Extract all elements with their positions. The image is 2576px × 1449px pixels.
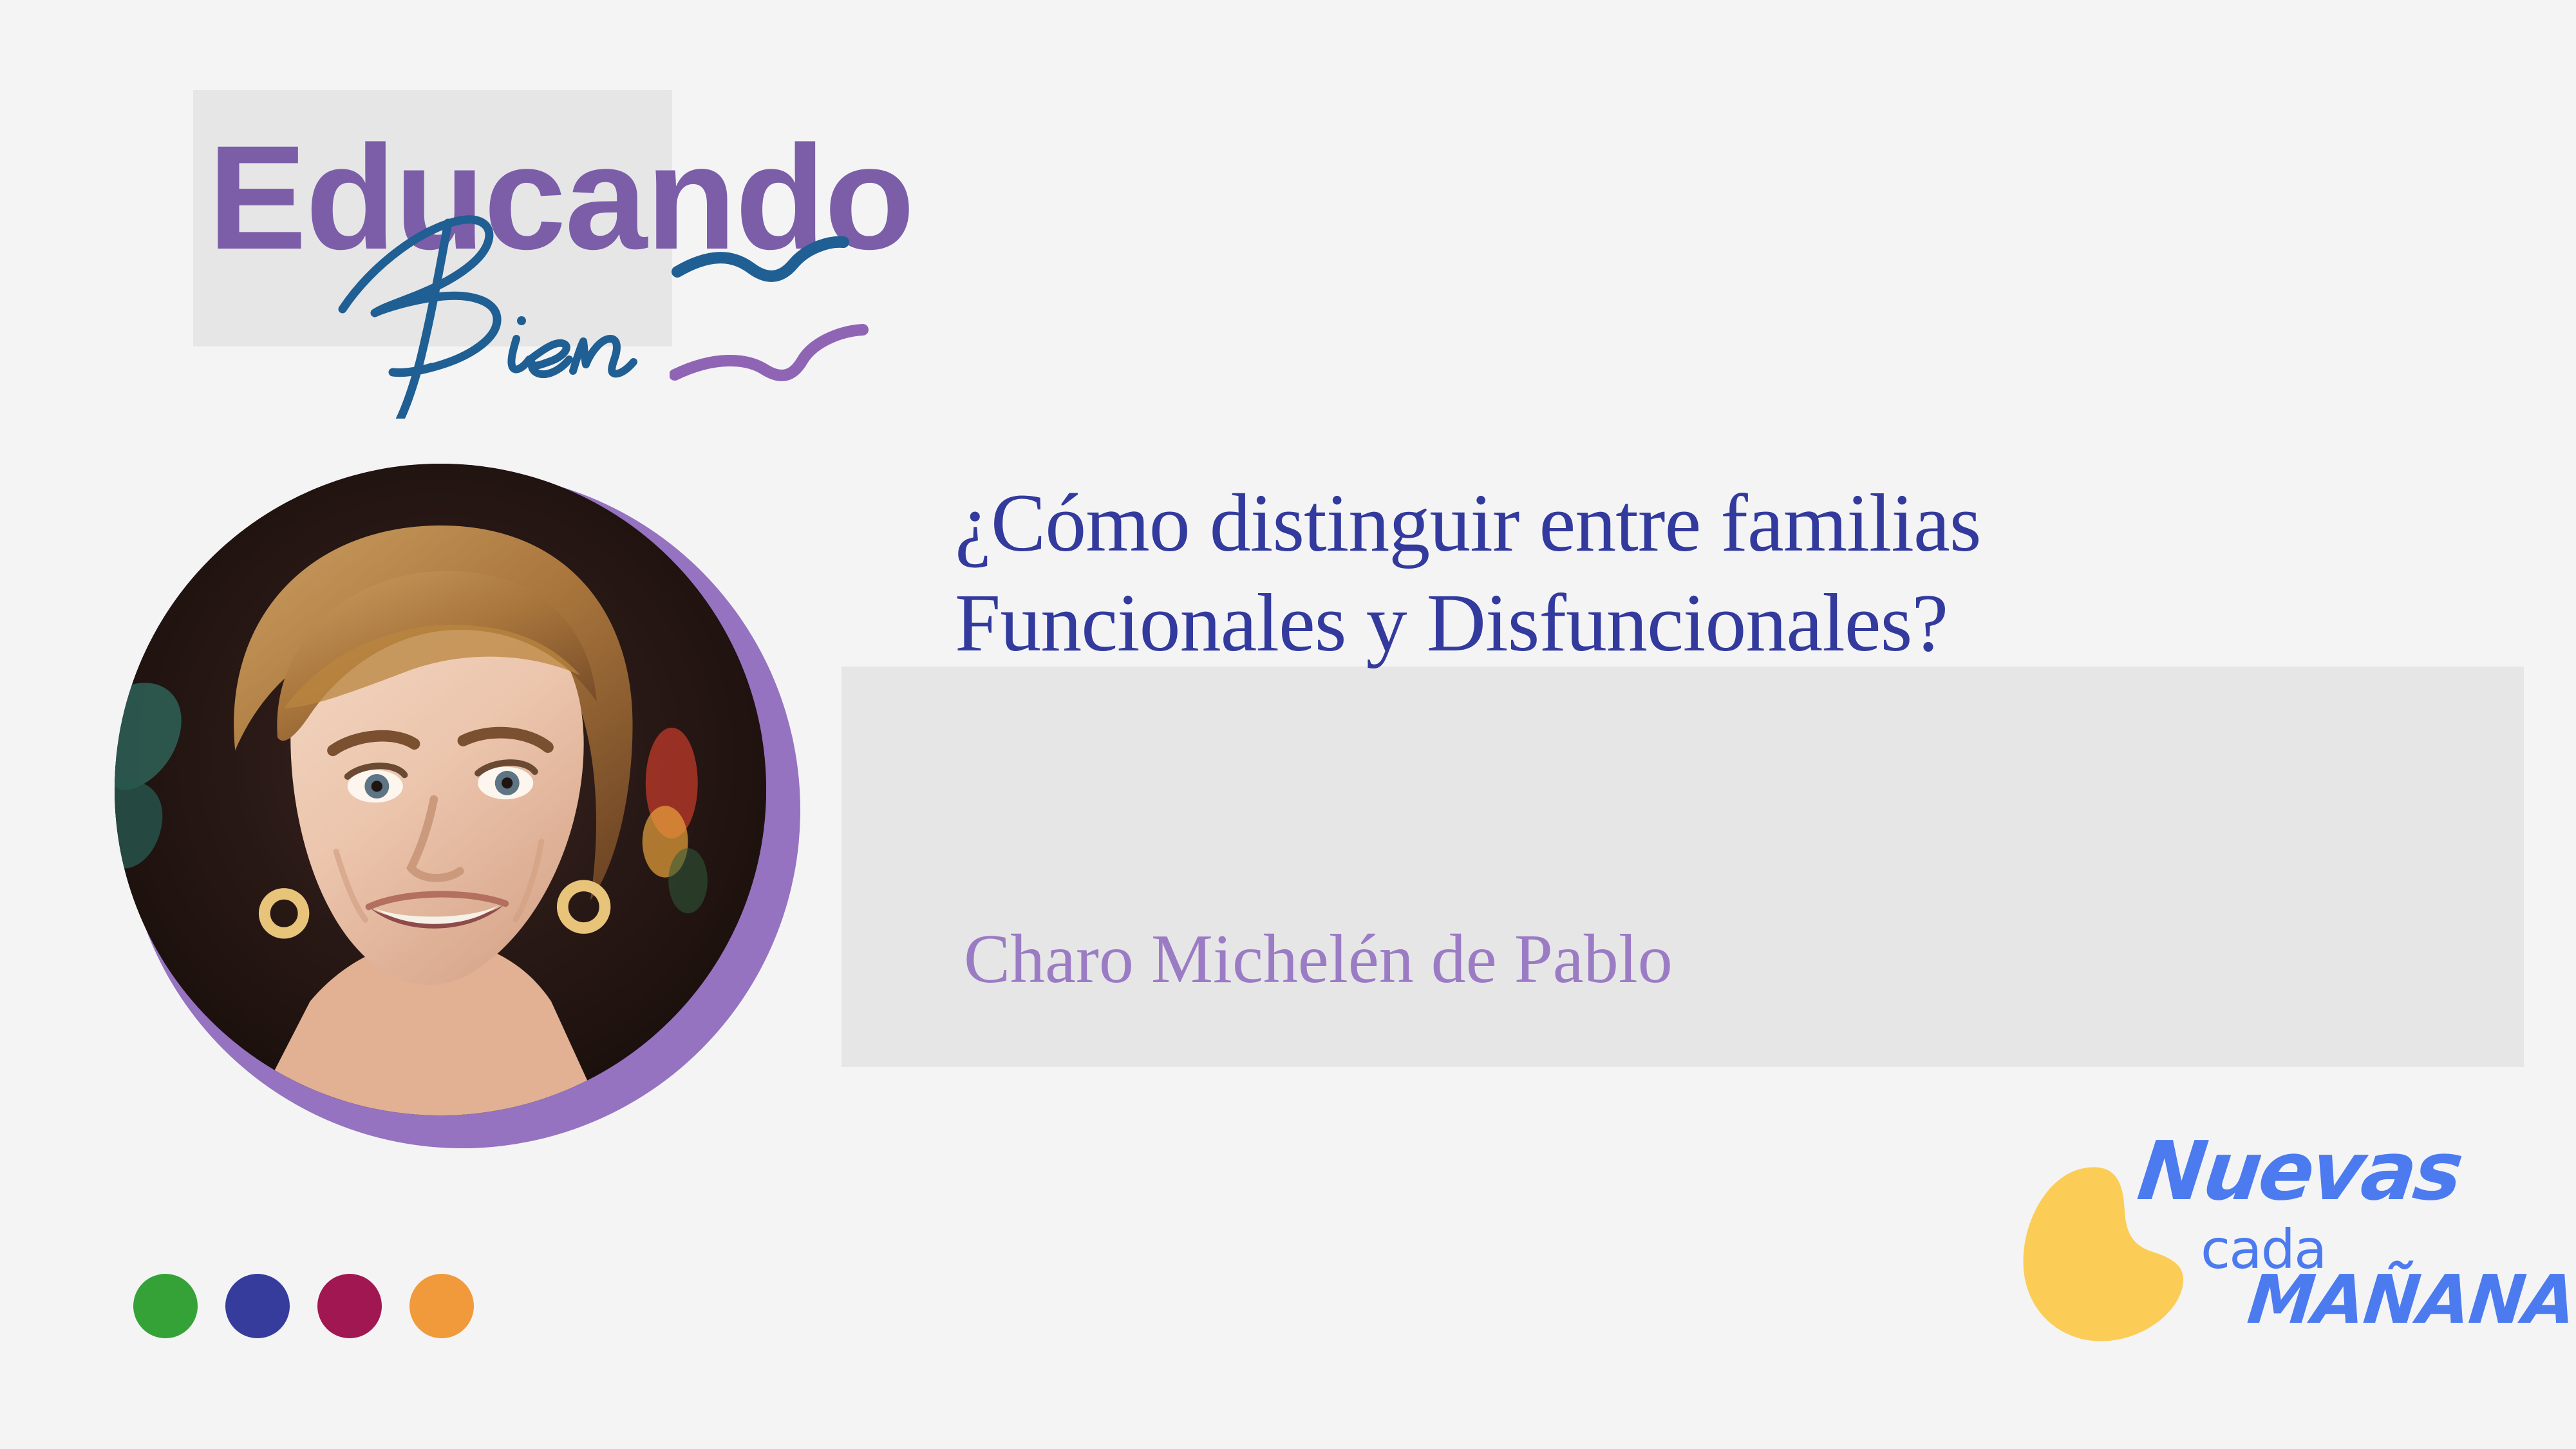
page-title: ¿Cómo distinguir entre familias Funciona… bbox=[955, 473, 2307, 673]
palette-dots bbox=[133, 1274, 474, 1338]
bird-lower-icon bbox=[675, 330, 863, 375]
channel-logo: Nuevas cada MAÑANA bbox=[2022, 1133, 2543, 1352]
palette-dot-orange bbox=[409, 1274, 474, 1338]
content-backdrop-panel bbox=[841, 667, 2524, 1067]
speaker-portrait-ring bbox=[124, 472, 800, 1148]
speaker-name: Charo Michelén de Pablo bbox=[964, 921, 2380, 998]
logo-line-nuevas: Nuevas bbox=[2134, 1131, 2465, 1212]
palette-dot-crimson bbox=[317, 1274, 382, 1338]
palette-dot-indigo bbox=[225, 1274, 290, 1338]
logo-line-manana: MAÑANA bbox=[2245, 1266, 2576, 1333]
palette-dot-green bbox=[133, 1274, 198, 1338]
brand-bird-swooshes bbox=[670, 232, 940, 419]
bird-upper-icon bbox=[677, 242, 843, 276]
brand-wordmark-bien bbox=[335, 213, 695, 419]
speaker-portrait-photo bbox=[115, 464, 766, 1115]
